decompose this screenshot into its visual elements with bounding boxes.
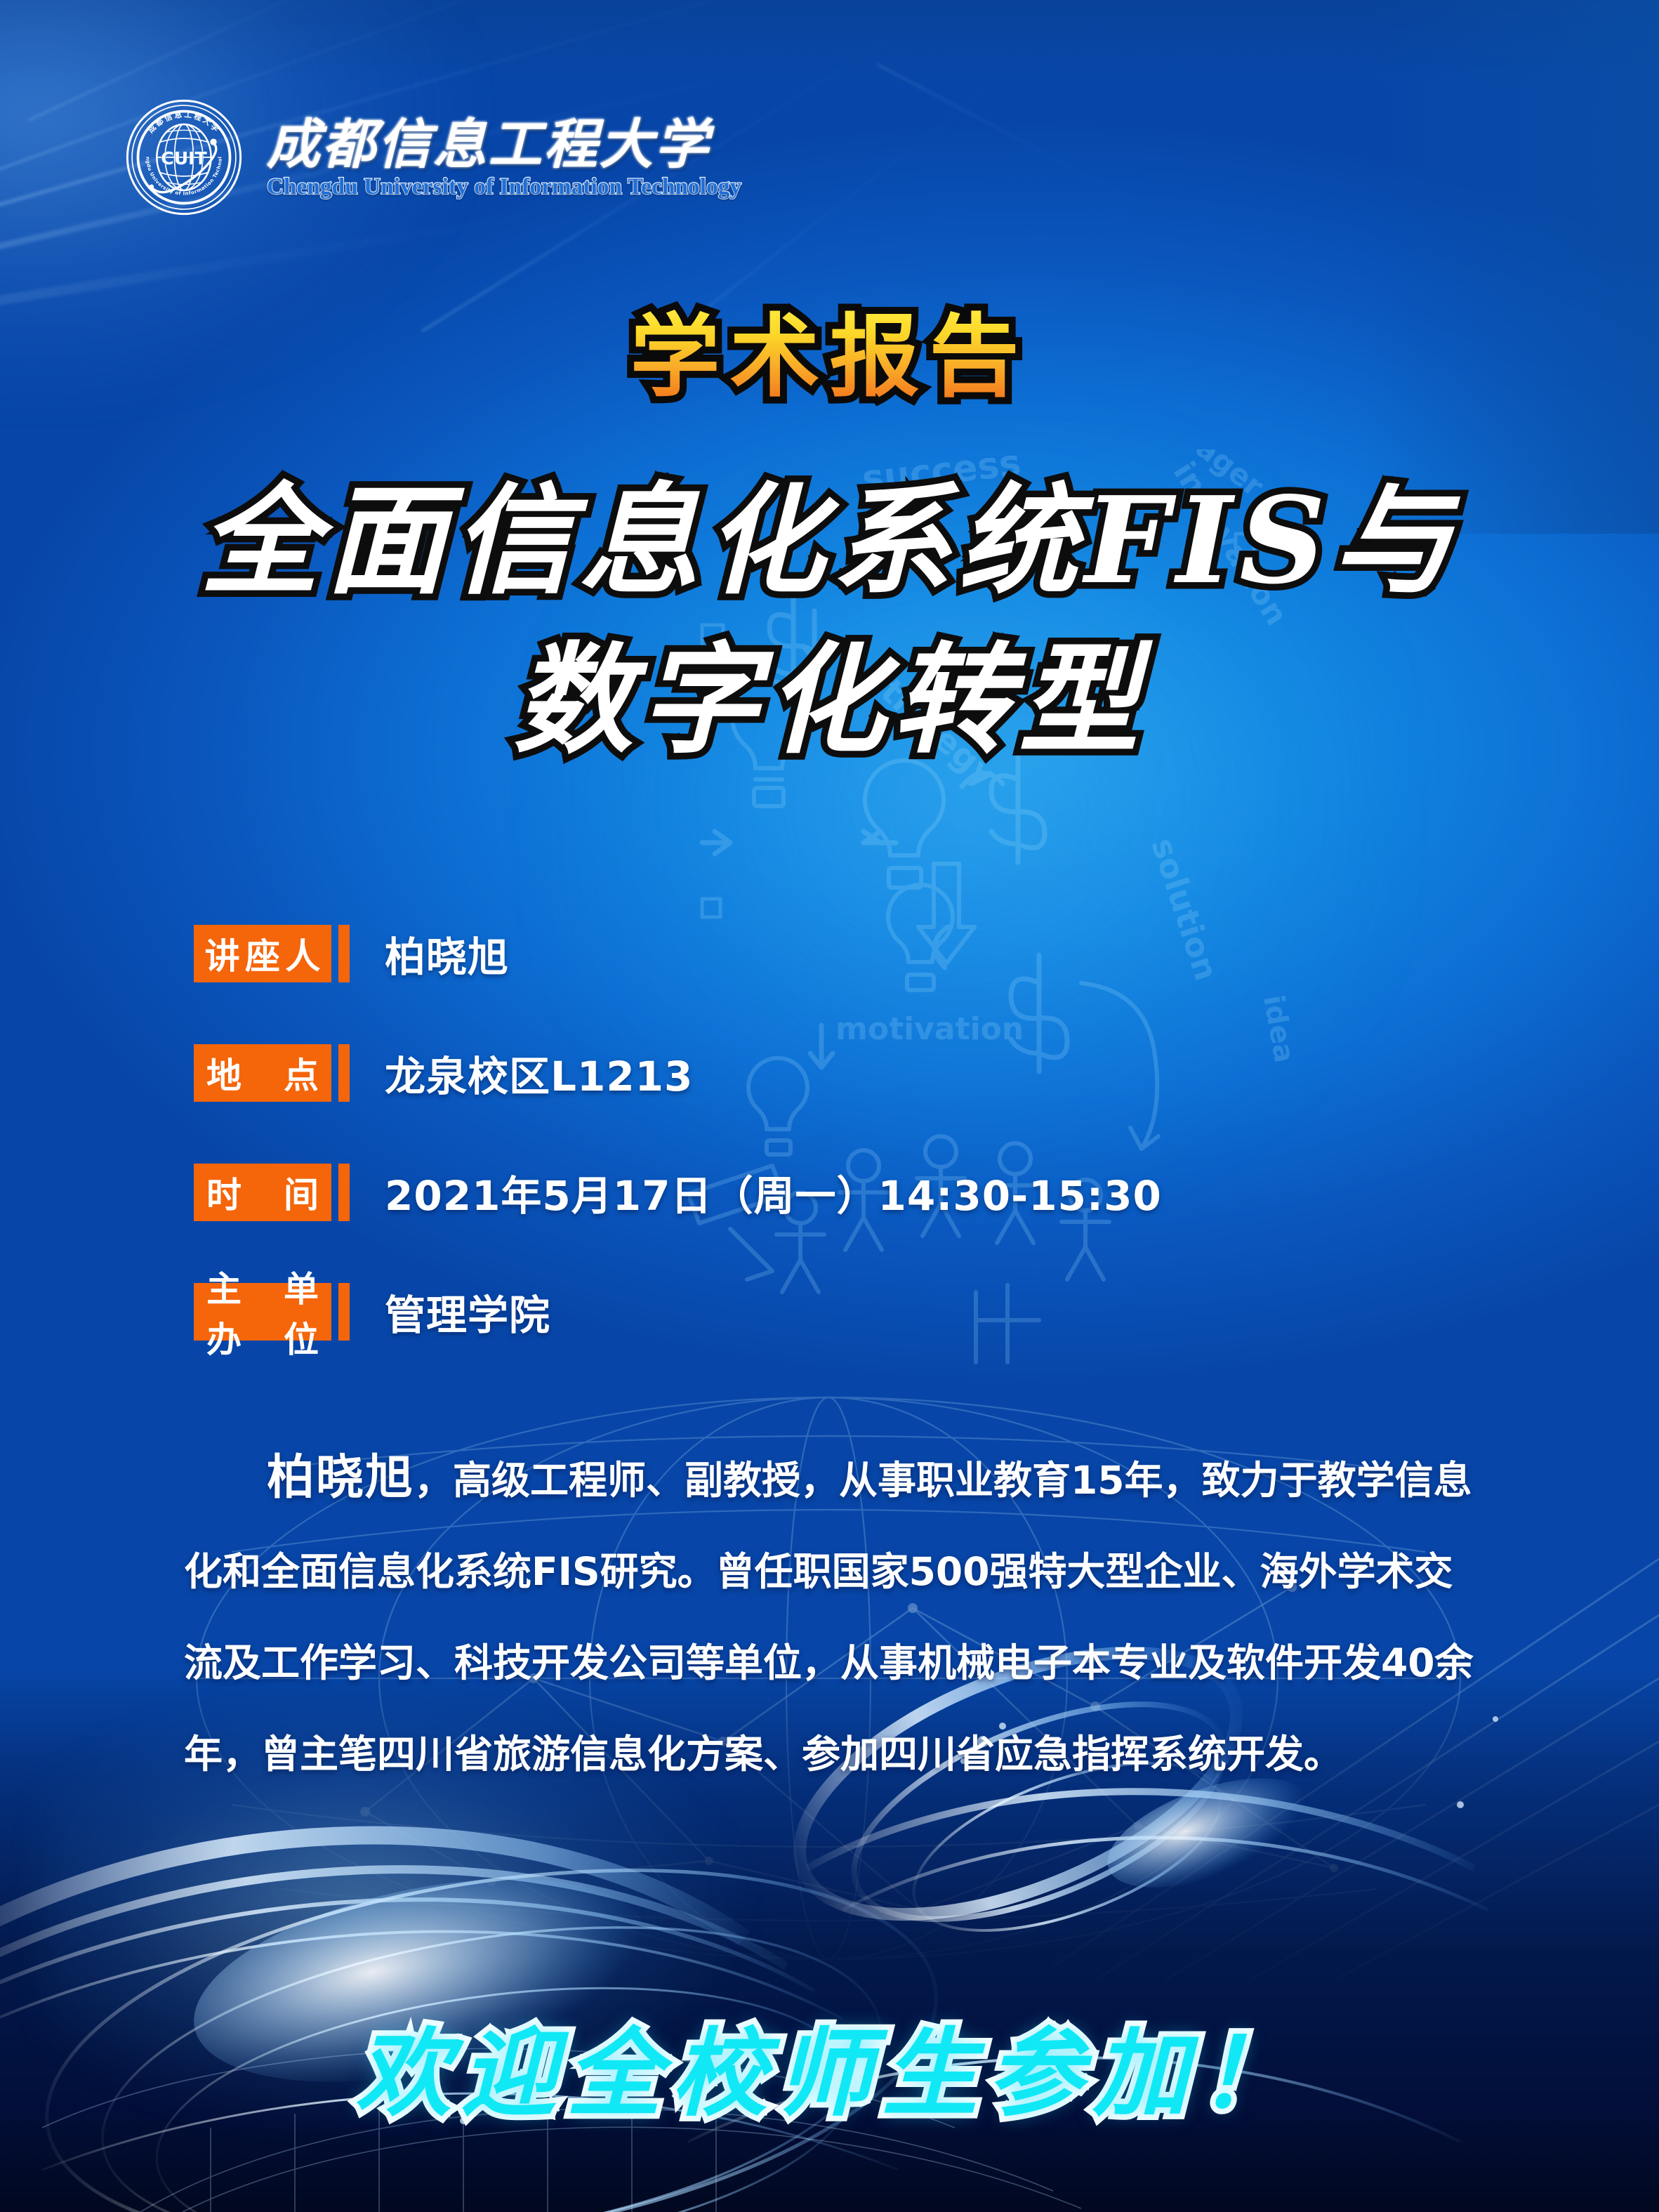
info-row-organizer: 主办 单位 管理学院 bbox=[194, 1275, 1528, 1348]
bio-line-5: 川省旅游信息化方案、参加四川省应急指挥系统开发。 bbox=[416, 1732, 1342, 1777]
footer-text-fill: 欢迎全校师生参加！ bbox=[356, 2014, 1304, 2133]
info-separator-bar bbox=[338, 1283, 350, 1341]
speaker-biography: 柏晓旭，高级工程师、副教授，从事职业教育15年，致力于教学信息化和全面信息化系统… bbox=[184, 1433, 1490, 1800]
university-name-block: 成都信息工程大学 Chengdu University of Informati… bbox=[267, 114, 741, 201]
poster-canvas: success strategy solution motivation inn… bbox=[0, 0, 1659, 2212]
info-separator-bar bbox=[338, 1044, 350, 1102]
kicker-title: 学术报告 学术报告 bbox=[630, 309, 1029, 406]
university-name-en: Chengdu University of Information Techno… bbox=[267, 174, 741, 200]
info-row-location: 地 点 龙泉校区L1213 bbox=[194, 1036, 1528, 1110]
kicker-title-fill: 学术报告 bbox=[630, 309, 1029, 406]
info-label-speaker-char-1: 讲 bbox=[202, 928, 242, 979]
info-label-location: 地 点 bbox=[194, 1044, 331, 1102]
info-value-organizer: 管理学院 bbox=[385, 1282, 550, 1341]
main-title: 全面信息化系统FIS与 全面信息化系统FIS与 数字化转型 数字化转型 bbox=[0, 463, 1659, 782]
info-label-time-char-2: 间 bbox=[263, 1167, 323, 1218]
info-label-location-char-1: 地 bbox=[202, 1048, 263, 1098]
main-title-line-1-fill: 全面信息化系统FIS与 bbox=[200, 463, 1459, 619]
info-value-location: 龙泉校区L1213 bbox=[385, 1044, 693, 1102]
info-label-organizer-part-2: 单位 bbox=[263, 1261, 323, 1362]
info-label-time-char-1: 时 bbox=[202, 1167, 263, 1218]
bio-line-1: ，高级工程师、副教授，从事职业教育15年，致 bbox=[414, 1458, 1241, 1503]
main-title-line-2-fill: 数字化转型 bbox=[513, 623, 1145, 778]
svg-text:CUIT: CUIT bbox=[161, 148, 207, 169]
info-label-organizer: 主办 单位 bbox=[194, 1283, 331, 1341]
cuit-seal-logo-icon: CUIT 成都信息工程大学 Chengdu University of Info… bbox=[125, 98, 243, 216]
university-name-cn: 成都信息工程大学 bbox=[267, 119, 741, 173]
info-label-speaker-char-3: 人 bbox=[283, 928, 323, 979]
poster-header: CUIT 成都信息工程大学 Chengdu University of Info… bbox=[125, 98, 741, 216]
info-separator-bar bbox=[338, 1164, 350, 1221]
kicker-wrap: 学术报告 学术报告 bbox=[0, 309, 1659, 406]
event-info-table: 讲 座 人 柏晓旭 地 点 龙泉校区L1213 时 间 2021年5月17日（周… bbox=[194, 917, 1528, 1348]
info-separator-bar bbox=[338, 925, 350, 982]
footer-call-to-action: 欢迎全校师生参加！ 欢迎全校师生参加！ bbox=[0, 2014, 1659, 2133]
main-title-line-2: 数字化转型 数字化转型 bbox=[513, 623, 1145, 778]
info-value-speaker: 柏晓旭 bbox=[385, 924, 509, 983]
footer-text-stack: 欢迎全校师生参加！ 欢迎全校师生参加！ bbox=[356, 2014, 1304, 2133]
info-value-time: 2021年5月17日（周一）14:30-15:30 bbox=[385, 1163, 1162, 1222]
main-title-line-1: 全面信息化系统FIS与 全面信息化系统FIS与 bbox=[200, 463, 1459, 619]
info-label-organizer-part-1: 主办 bbox=[202, 1261, 263, 1362]
info-label-location-char-2: 点 bbox=[263, 1048, 323, 1098]
info-label-speaker: 讲 座 人 bbox=[194, 925, 331, 982]
info-label-time: 时 间 bbox=[194, 1164, 331, 1221]
info-row-time: 时 间 2021年5月17日（周一）14:30-15:30 bbox=[194, 1156, 1528, 1229]
info-row-speaker: 讲 座 人 柏晓旭 bbox=[194, 917, 1528, 990]
bio-lead-name: 柏晓旭 bbox=[267, 1450, 414, 1506]
info-label-speaker-char-2: 座 bbox=[242, 928, 282, 979]
